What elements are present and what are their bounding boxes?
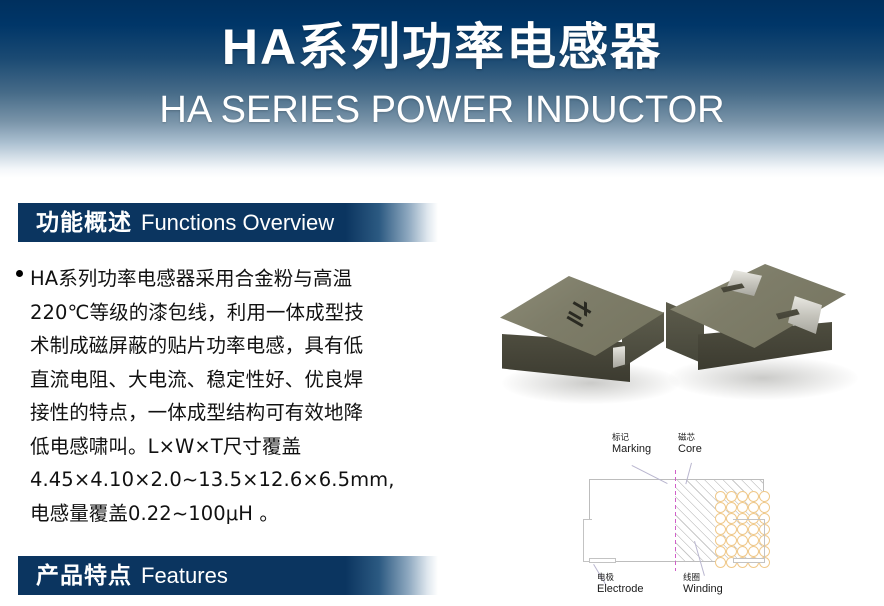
diagram-label-marking-cn: 标记 (612, 433, 651, 443)
diagram-electrode-left (583, 519, 592, 562)
overview-line: 低电感啸叫。L×W×T尺寸覆盖 (30, 430, 456, 464)
page-root: HA系列功率电感器 HA SERIES POWER INDUCTOR 功能概述F… (0, 0, 884, 606)
overview-line: 4.45×4.10×2.0~13.5×12.6×6.5mm, (30, 463, 456, 497)
overview-line: 术制成磁屏蔽的贴片功率电感，具有低 (30, 329, 456, 363)
functions-overview-body: HA系列功率电感器采用合金粉与高温 220℃等级的漆包线，利用一体成型技 术制成… (14, 262, 456, 530)
winding-turn (759, 502, 770, 513)
section-label-functions-cn: 功能概述 (36, 209, 132, 235)
winding-turn (748, 491, 759, 502)
diagram-label-winding: 线圈 Winding (683, 573, 723, 595)
diagram-electrode-right (733, 519, 765, 562)
section-header-functions-overview: 功能概述Functions Overview (18, 203, 438, 242)
product-photo-group (470, 258, 884, 420)
diagram-label-electrode: 电极 Electrode (597, 573, 643, 595)
page-title-english: HA SERIES POWER INDUCTOR (0, 88, 884, 132)
winding-turn (737, 502, 748, 513)
winding-turn (726, 502, 737, 513)
winding-turn (726, 491, 737, 502)
diagram-label-core-en: Core (678, 443, 702, 455)
overview-line: 电感量覆盖0.22~100μH 。 (30, 497, 456, 531)
overview-line: HA系列功率电感器采用合金粉与高温 (30, 262, 456, 296)
inductor-electrode-tab (613, 346, 625, 368)
diagram-label-electrode-cn: 电极 (597, 573, 643, 583)
overview-line: 直流电阻、大电流、稳定性好、优良焊 (30, 363, 456, 397)
diagram-label-marking: 标记 Marking (612, 433, 651, 455)
winding-turn (715, 524, 726, 535)
winding-turn (715, 546, 726, 557)
cross-section-diagram: 标记 Marking 磁芯 Core 电极 Electrode 线圈 Windi… (560, 425, 884, 606)
section-label-features-cn: 产品特点 (36, 562, 132, 588)
winding-turn (715, 513, 726, 524)
page-title-chinese: HA系列功率电感器 (0, 18, 884, 76)
diagram-label-marking-en: Marking (612, 443, 651, 455)
overview-line: 220℃等级的漆包线，利用一体成型技 (30, 296, 456, 330)
winding-turn (748, 502, 759, 513)
header-banner: HA系列功率电感器 HA SERIES POWER INDUCTOR (0, 0, 884, 178)
diagram-electrode-left-foot (589, 558, 616, 563)
winding-turn (715, 535, 726, 546)
diagram-label-winding-cn: 线圈 (683, 573, 723, 583)
section-header-features: 产品特点Features (18, 556, 438, 595)
overview-paragraph: HA系列功率电感器采用合金粉与高温 220℃等级的漆包线，利用一体成型技 术制成… (14, 262, 456, 530)
diagram-marking-line (675, 470, 676, 571)
diagram-electrode-right-foot (733, 558, 765, 563)
section-label-functions: 功能概述Functions Overview (18, 203, 334, 242)
diagram-label-core-cn: 磁芯 (678, 433, 702, 443)
inductor-marking-glyph (584, 301, 587, 317)
section-label-features-en: Features (132, 563, 228, 588)
inductor-front-view (498, 262, 673, 402)
diagram-label-winding-en: Winding (683, 583, 723, 595)
winding-turn (737, 491, 748, 502)
winding-turn (715, 491, 726, 502)
winding-turn (715, 557, 726, 568)
section-label-functions-en: Functions Overview (132, 210, 334, 235)
overview-line: 接性的特点，一体成型结构可有效地降 (30, 396, 456, 430)
inductor-rear-view (666, 258, 856, 398)
diagram-label-electrode-en: Electrode (597, 583, 643, 595)
winding-turn (759, 491, 770, 502)
diagram-label-core: 磁芯 Core (678, 433, 702, 455)
section-label-features: 产品特点Features (18, 556, 228, 595)
winding-turn (715, 502, 726, 513)
bullet-point-icon (16, 270, 23, 277)
